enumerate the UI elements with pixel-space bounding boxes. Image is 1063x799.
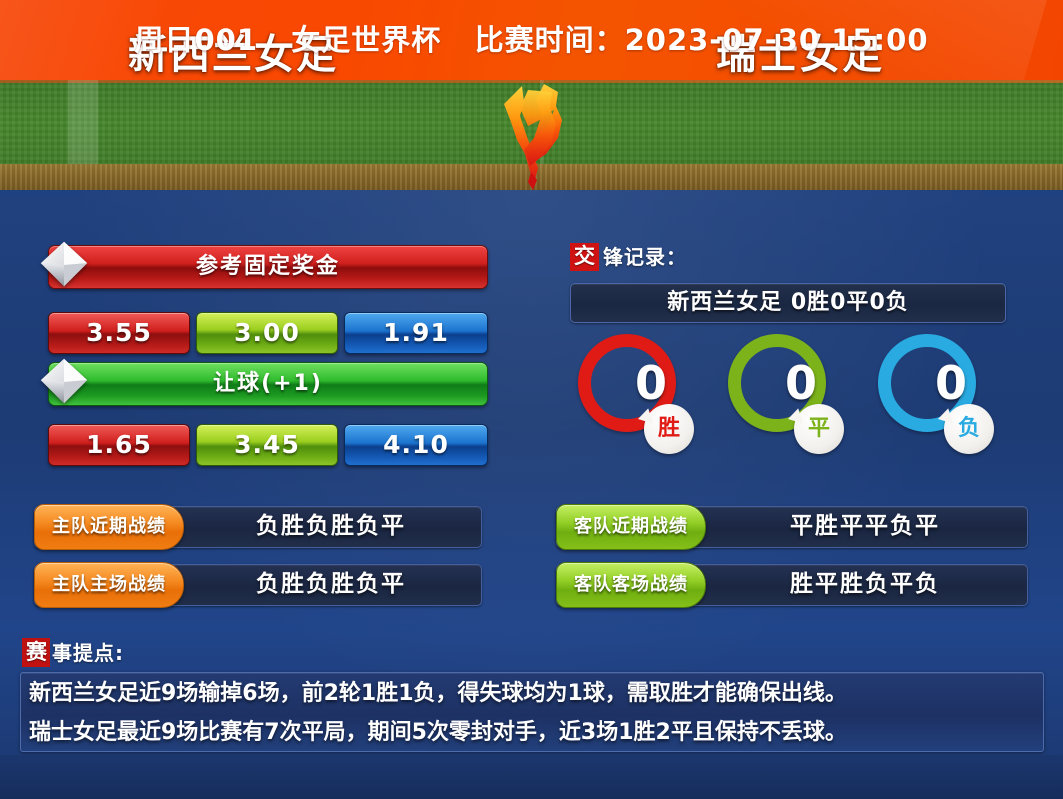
- h2h-loss-value: 0: [935, 357, 995, 409]
- home-venue-form-tag: 主队主场战绩: [34, 562, 184, 608]
- handicap-odds-home-button[interactable]: 1.65: [48, 424, 190, 466]
- away-venue-form-label: 客队客场战绩: [557, 563, 705, 607]
- fixed-odds-title: 参考固定奖金: [49, 246, 487, 288]
- h2h-draw-ring-group: 0 平: [728, 334, 838, 484]
- h2h-draw-badge: 平: [794, 404, 844, 454]
- handicap-odds-draw-value: 3.45: [197, 425, 337, 465]
- pitch-stripe-left: [68, 80, 98, 168]
- home-recent-form-label: 主队近期战绩: [35, 505, 183, 549]
- h2h-loss-badge: 负: [944, 404, 994, 454]
- home-recent-form-tag: 主队近期战绩: [34, 504, 184, 550]
- away-recent-form-row: 客队近期战绩 平胜平平负平: [556, 504, 1026, 548]
- notes-heading-chip: 赛: [22, 638, 50, 667]
- vs-icon: [484, 80, 584, 190]
- away-venue-form-tag: 客队客场战绩: [556, 562, 706, 608]
- h2h-summary-bar: 新西兰女足 0胜0平0负: [570, 283, 1006, 323]
- h2h-draw-label: 平: [794, 404, 844, 454]
- home-venue-form-row: 主队主场战绩 负胜负胜负平: [34, 562, 480, 606]
- h2h-win-value: 0: [635, 357, 695, 409]
- away-recent-form-tag: 客队近期战绩: [556, 504, 706, 550]
- h2h-draw-value: 0: [785, 357, 845, 409]
- fixed-odds-home-button[interactable]: 3.55: [48, 312, 190, 354]
- h2h-loss-ring-group: 0 负: [878, 334, 988, 484]
- h2h-heading-text: 锋记录：: [603, 245, 687, 270]
- fixed-odds-draw-value: 3.00: [197, 313, 337, 353]
- diamond-gem-icon: [35, 353, 93, 411]
- handicap-odds-draw-button[interactable]: 3.45: [196, 424, 338, 466]
- fixed-odds-away-button[interactable]: 1.91: [344, 312, 488, 354]
- fixed-odds-draw-button[interactable]: 3.00: [196, 312, 338, 354]
- h2h-loss-label: 负: [944, 404, 994, 454]
- diamond-gem-icon: [35, 236, 93, 294]
- fixed-odds-home-value: 3.55: [49, 313, 189, 353]
- home-venue-form-label: 主队主场战绩: [35, 563, 183, 607]
- away-recent-form-label: 客队近期战绩: [557, 505, 705, 549]
- h2h-heading: 交锋记录：: [570, 243, 687, 271]
- notes-heading-text: 事提点:: [52, 640, 124, 666]
- notes-heading: 赛事提点:: [22, 638, 124, 668]
- header-banner: 周日001 女足世界杯 比赛时间：2023-07-30 15:00: [0, 0, 1063, 80]
- handicap-title-bar: 让球(+1): [48, 362, 488, 406]
- handicap-odds-away-button[interactable]: 4.10: [344, 424, 488, 466]
- notes-line-2: 瑞士女足最近9场比赛有7次平局，期间5次零封对手，近3场1胜2平且保持不丢球。: [21, 712, 1043, 751]
- fixed-odds-away-value: 1.91: [345, 313, 487, 353]
- h2h-win-ring-group: 0 胜: [578, 334, 688, 484]
- fixed-odds-title-bar: 参考固定奖金: [48, 245, 488, 289]
- handicap-odds-away-value: 4.10: [345, 425, 487, 465]
- header-title: 周日001 女足世界杯 比赛时间：2023-07-30 15:00: [0, 0, 1063, 80]
- home-recent-form-value: 负胜负胜负平: [182, 506, 480, 546]
- h2h-rings: 0 胜 0 平 0 负: [560, 334, 1030, 484]
- away-venue-form-row: 客队客场战绩 胜平胜负平负: [556, 562, 1026, 606]
- h2h-heading-chip: 交: [570, 243, 599, 271]
- h2h-summary-text: 新西兰女足 0胜0平0负: [571, 284, 1005, 322]
- footer-spacer: [0, 755, 1063, 799]
- handicap-title: 让球(+1): [49, 363, 487, 405]
- notes-line-1: 新西兰女足近9场输掉6场，前2轮1胜1负，得失球均为1球，需取胜才能确保出线。: [21, 673, 1043, 712]
- h2h-win-badge: 胜: [644, 404, 694, 454]
- h2h-win-label: 胜: [644, 404, 694, 454]
- handicap-odds-home-value: 1.65: [49, 425, 189, 465]
- home-venue-form-value: 负胜负胜负平: [182, 564, 480, 604]
- notes-box: 新西兰女足近9场输掉6场，前2轮1胜1负，得失球均为1球，需取胜才能确保出线。 …: [20, 672, 1044, 752]
- away-recent-form-value: 平胜平平负平: [704, 506, 1026, 546]
- match-preview-card: 周日001 女足世界杯 比赛时间：2023-07-30 15:00 新西兰女足 …: [0, 0, 1063, 799]
- away-venue-form-value: 胜平胜负平负: [704, 564, 1026, 604]
- home-recent-form-row: 主队近期战绩 负胜负胜负平: [34, 504, 480, 548]
